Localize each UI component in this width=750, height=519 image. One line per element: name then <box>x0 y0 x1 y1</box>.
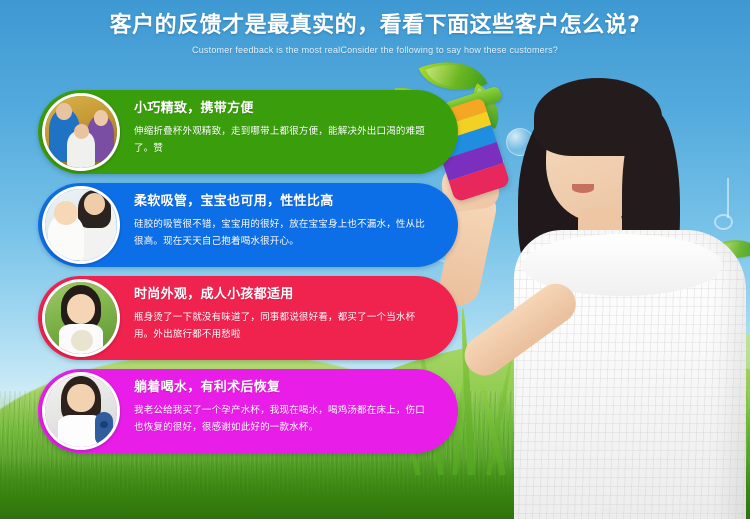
testimonial-text: 伸缩折叠杯外观精致，走到哪带上都很方便，能解决外出口渴的难题了。赞 <box>134 124 426 157</box>
model-photo <box>426 58 750 519</box>
testimonial-card-fashionable-all-ages[interactable]: 时尚外观，成人小孩都适用 瓶身烫了一下就没有味道了，同事都说很好看，都买了一个当… <box>38 276 458 360</box>
testimonial-body: 小巧精致，携带方便 伸缩折叠杯外观精致，走到哪带上都很方便，能解决外出口渴的难题… <box>134 102 444 158</box>
page-title: 客户的反馈才是最真实的，看看下面这些客户怎么说? <box>0 12 750 40</box>
avatar <box>42 372 120 450</box>
testimonial-body: 躺着喝水，有利术后恢复 我老公给我买了一个孕产水杯，我现在喝水，喝鸡汤都在床上，… <box>134 381 444 437</box>
testimonial-card-drink-lying-down[interactable]: 躺着喝水，有利术后恢复 我老公给我买了一个孕产水杯，我现在喝水，喝鸡汤都在床上，… <box>38 369 458 453</box>
testimonial-text: 瓶身烫了一下就没有味道了，同事都说很好看，都买了一个当水杯用。外出旅行都不用愁啦 <box>134 310 426 343</box>
testimonial-card-soft-straw-baby[interactable]: 柔软吸管，宝宝也可用，性性比高 硅胶的吸管很不错，宝宝用的很好，放在宝宝身上也不… <box>38 183 458 267</box>
page-subtitle: Customer feedback is the most realConsid… <box>0 45 750 55</box>
testimonial-list: 小巧精致，携带方便 伸缩折叠杯外观精致，走到哪带上都很方便，能解决外出口渴的难题… <box>38 90 458 462</box>
testimonial-title: 柔软吸管，宝宝也可用，性性比高 <box>134 195 444 209</box>
family-hiking-photo <box>45 96 117 168</box>
avatar <box>42 93 120 171</box>
promo-banner: 客户的反馈才是最真实的，看看下面这些客户怎么说? Customer feedba… <box>0 0 750 519</box>
avatar <box>42 279 120 357</box>
testimonial-body: 时尚外观，成人小孩都适用 瓶身烫了一下就没有味道了，同事都说很好看，都买了一个当… <box>134 288 444 344</box>
model-mouth <box>572 184 594 193</box>
testimonial-card-compact-portable[interactable]: 小巧精致，携带方便 伸缩折叠杯外观精致，走到哪带上都很方便，能解决外出口渴的难题… <box>38 90 458 174</box>
testimonial-text: 我老公给我买了一个孕产水杯，我现在喝水，喝鸡汤都在床上，伤口也恢复的很好，很感谢… <box>134 403 426 436</box>
testimonial-title: 小巧精致，携带方便 <box>134 102 444 116</box>
testimonial-title: 时尚外观，成人小孩都适用 <box>134 288 444 302</box>
mother-and-baby-photo <box>45 189 117 261</box>
little-girl-photo <box>45 282 117 354</box>
young-woman-yoga-photo <box>45 375 117 447</box>
testimonial-body: 柔软吸管，宝宝也可用，性性比高 硅胶的吸管很不错，宝宝用的很好，放在宝宝身上也不… <box>134 195 444 251</box>
banner-header: 客户的反馈才是最真实的，看看下面这些客户怎么说? Customer feedba… <box>0 12 750 55</box>
testimonial-title: 躺着喝水，有利术后恢复 <box>134 381 444 395</box>
testimonial-text: 硅胶的吸管很不错，宝宝用的很好，放在宝宝身上也不漏水，性从比很高。现在天天自己抱… <box>134 217 426 250</box>
avatar <box>42 186 120 264</box>
